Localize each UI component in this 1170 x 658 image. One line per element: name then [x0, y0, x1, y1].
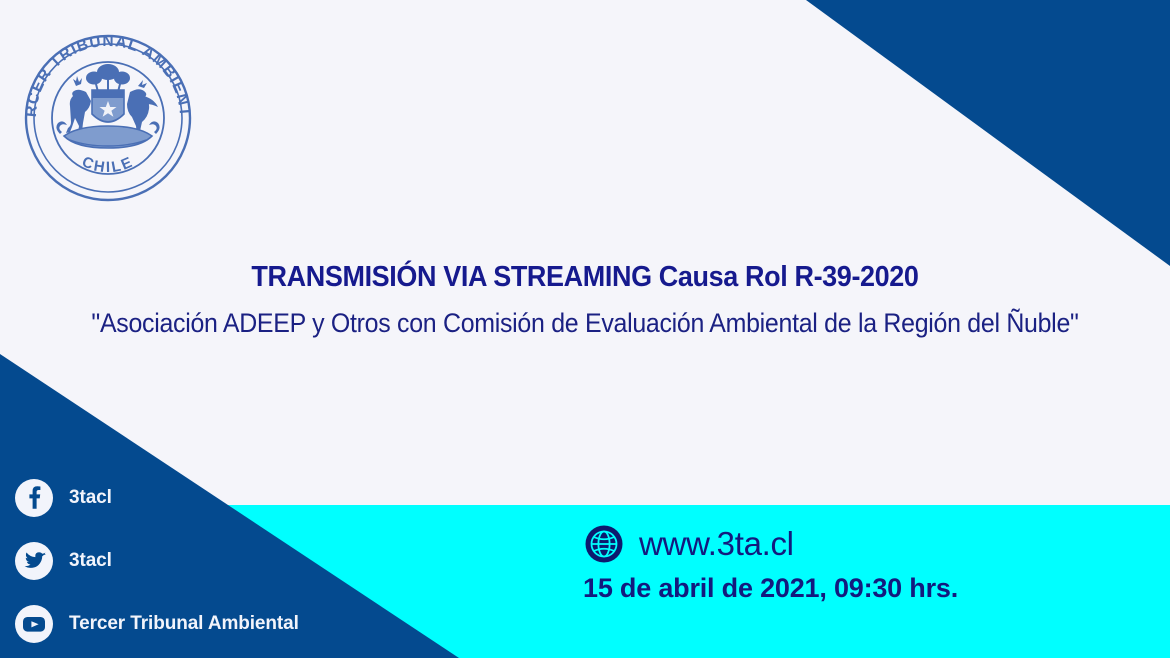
social-item-youtube[interactable]: Tercer Tribunal Ambiental — [14, 600, 444, 648]
event-date: 15 de abril de 2021, 09:30 hrs. — [583, 573, 958, 604]
facebook-icon[interactable] — [14, 478, 54, 518]
website-url[interactable]: www.3ta.cl — [639, 525, 794, 563]
tribunal-seal-logo: TERCER TRIBUNAL AMBIENTAL CHILE — [8, 18, 208, 218]
website-and-date-block: www.3ta.cl 15 de abril de 2021, 09:30 hr… — [583, 522, 958, 604]
svg-text:CHILE: CHILE — [79, 153, 136, 176]
social-item-facebook[interactable]: 3tacl — [14, 474, 444, 522]
youtube-icon[interactable] — [14, 604, 54, 644]
social-item-twitter[interactable]: 3tacl — [14, 537, 444, 585]
social-label-twitter: 3tacl — [69, 550, 112, 572]
twitter-icon[interactable] — [14, 541, 54, 581]
social-label-facebook: 3tacl — [69, 487, 112, 509]
social-label-youtube: Tercer Tribunal Ambiental — [69, 613, 299, 635]
website-row[interactable]: www.3ta.cl — [583, 522, 958, 566]
globe-icon — [583, 523, 625, 565]
streaming-announcement-poster: TERCER TRIBUNAL AMBIENTAL CHILE — [0, 0, 1170, 658]
social-accounts-list: 3tacl 3tacl Tercer Tribunal Ambiental — [14, 474, 444, 658]
